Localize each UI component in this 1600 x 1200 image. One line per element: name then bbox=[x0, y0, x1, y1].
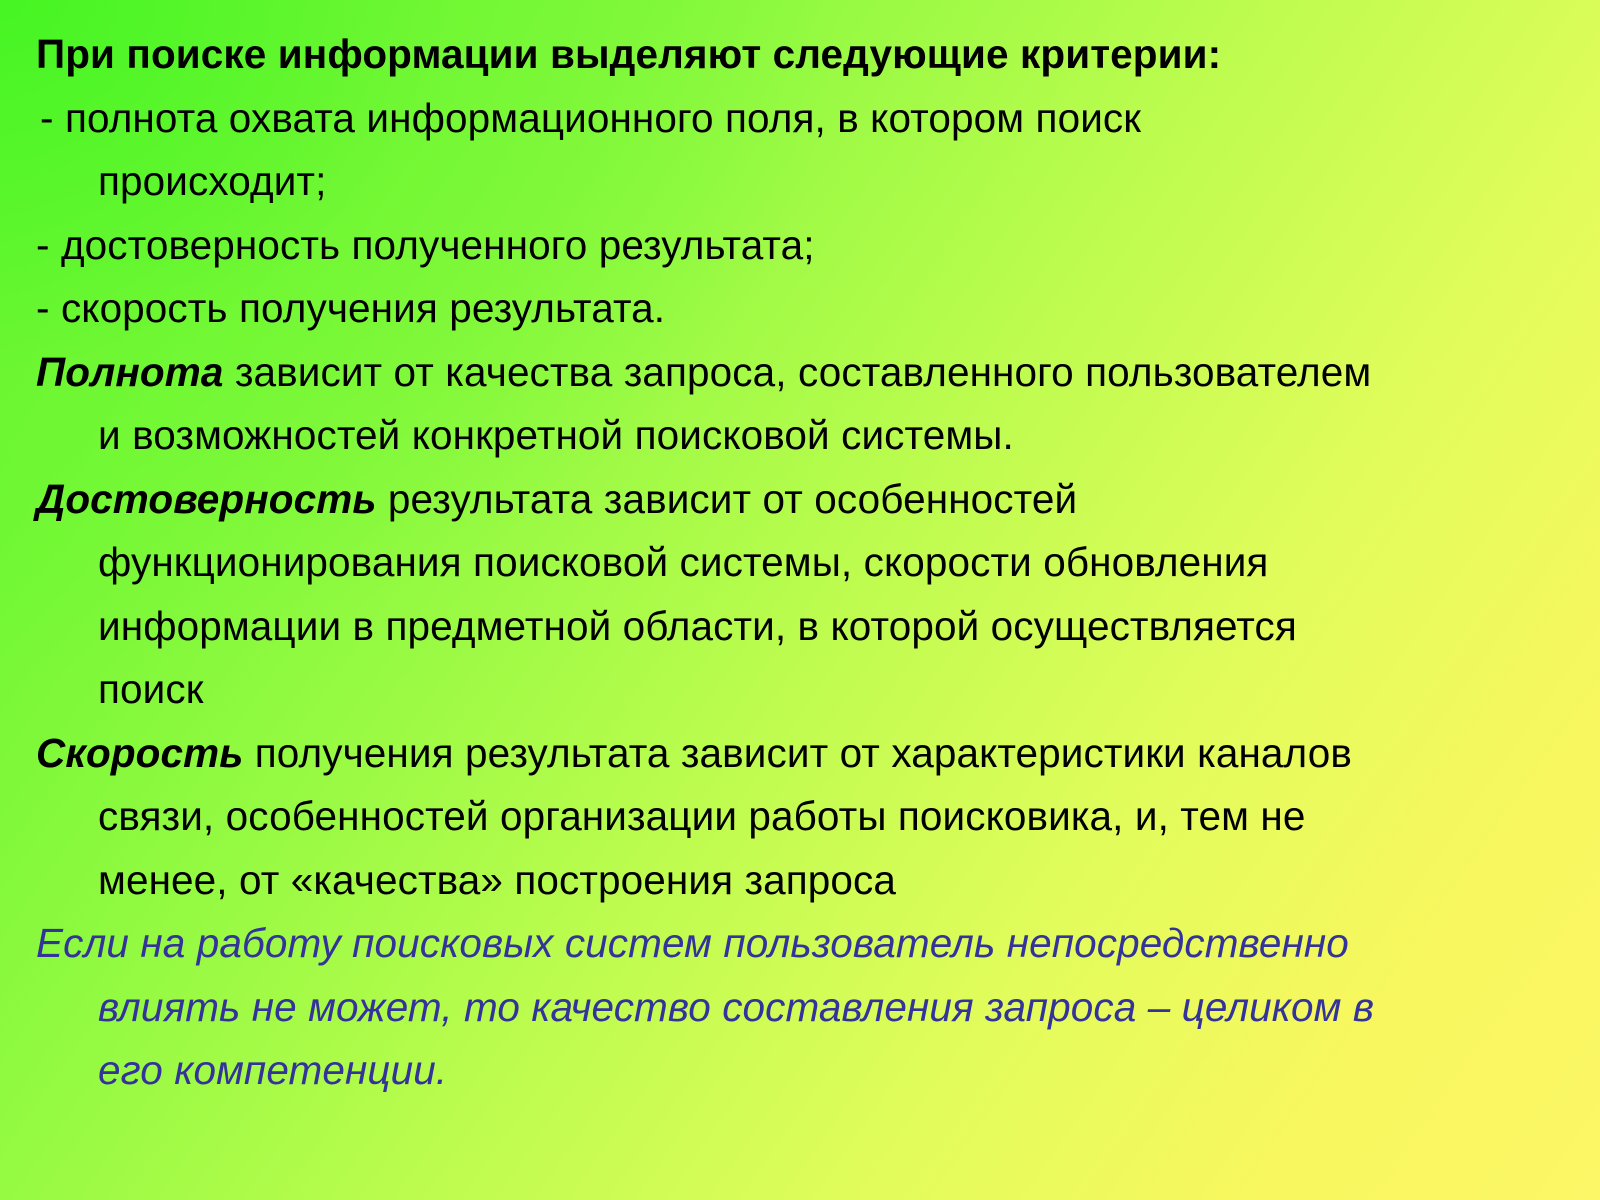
paragraph-dostovernost-line-1: Достоверность результата зависит от особ… bbox=[36, 479, 1570, 520]
bullet-item-2: - достоверность полученного результата; bbox=[36, 225, 1570, 266]
bullet-item-1-line-1: - полнота охвата информационного поля, в… bbox=[40, 98, 1570, 139]
closing-note-line-3: его компетенции. bbox=[98, 1050, 1570, 1091]
paragraph-dostovernost-line-4: поиск bbox=[98, 669, 1570, 710]
paragraph-polnota-line-1: Полнота зависит от качества запроса, сос… bbox=[36, 352, 1570, 393]
paragraph-skorost-line-2: связи, особенностей организации работы п… bbox=[98, 796, 1570, 837]
bullet-item-3: - скорость получения результата. bbox=[36, 288, 1570, 329]
paragraph-dostovernost-line-3: информации в предметной области, в котор… bbox=[98, 606, 1570, 647]
paragraph-polnota-lead: Полнота bbox=[36, 349, 224, 395]
paragraph-polnota-line-2: и возможностей конкретной поисковой сист… bbox=[98, 415, 1570, 456]
paragraph-skorost-line-1: Скорость получения результата зависит от… bbox=[36, 733, 1570, 774]
paragraph-skorost-line-3: менее, от «качества» построения запроса bbox=[98, 860, 1570, 901]
paragraph-polnota-rest: зависит от качества запроса, составленно… bbox=[224, 349, 1372, 395]
paragraph-skorost-lead: Скорость bbox=[36, 730, 243, 776]
paragraph-dostovernost-rest: результата зависит от особенностей bbox=[377, 476, 1078, 522]
slide-content: При поиске информации выделяют следующие… bbox=[0, 0, 1600, 1091]
paragraph-dostovernost-lead: Достоверность bbox=[36, 476, 377, 522]
slide-canvas: При поиске информации выделяют следующие… bbox=[0, 0, 1600, 1200]
bullet-item-1-line-2: происходит; bbox=[98, 161, 1570, 202]
closing-note-line-2: влиять не может, то качество составления… bbox=[98, 987, 1570, 1028]
closing-note-line-1: Если на работу поисковых систем пользова… bbox=[36, 923, 1570, 964]
paragraph-skorost-rest: получения результата зависит от характер… bbox=[243, 730, 1352, 776]
page-title: При поиске информации выделяют следующие… bbox=[36, 34, 1570, 75]
paragraph-dostovernost-line-2: функционирования поисковой системы, скор… bbox=[98, 542, 1570, 583]
